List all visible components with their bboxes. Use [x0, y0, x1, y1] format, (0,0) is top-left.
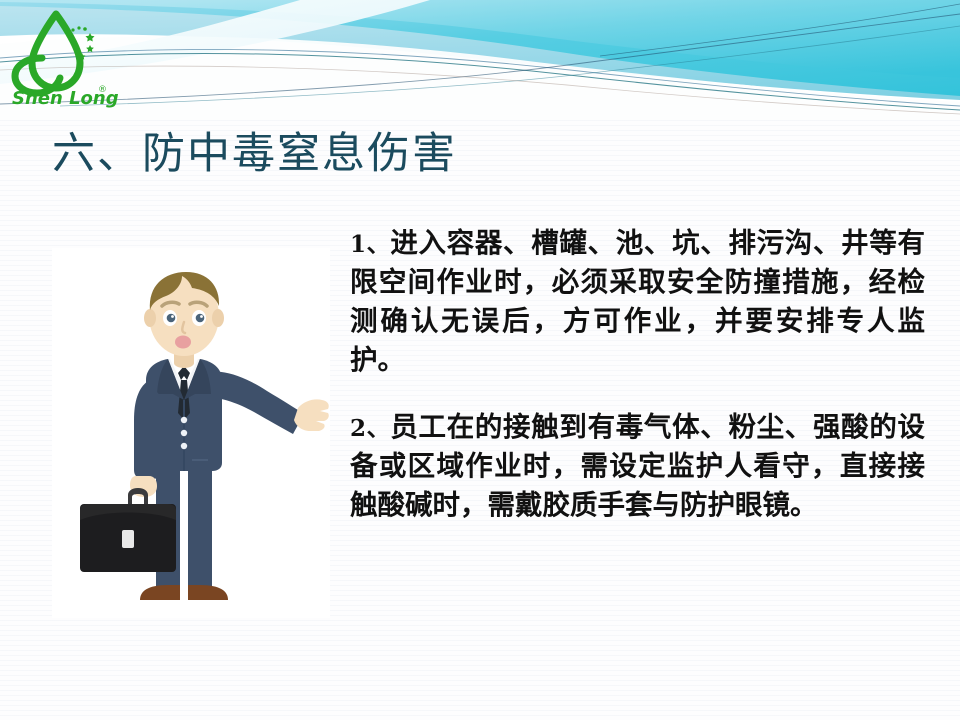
- left-arm: [134, 381, 162, 479]
- left-pupil: [167, 314, 176, 323]
- paragraph-2-text: 员工在的接触到有毒气体、粉尘、强酸的设备或区域作业时，需设定监护人看守，直接接触…: [350, 411, 925, 521]
- businessman-pointing-with-briefcase-graphic: [52, 248, 330, 618]
- right-ear: [212, 309, 224, 327]
- company-logo: Shen Long ®: [10, 8, 120, 108]
- left-ear: [144, 309, 156, 327]
- paragraph-1: 1、进入容器、槽罐、池、坑、排污沟、井等有限空间作业时，必须采取安全防撞措施，经…: [350, 224, 925, 380]
- presentation-slide: Shen Long ® 六、防中毒窒息伤害: [0, 0, 960, 720]
- paragraph-1-marker: 1、: [350, 231, 390, 258]
- mouth: [175, 336, 191, 349]
- paragraph-2-marker: 2、: [350, 415, 390, 442]
- logo-registered-mark: ®: [98, 85, 107, 95]
- paragraph-2: 2、员工在的接触到有毒气体、粉尘、强酸的设备或区域作业时，需设定监护人看守，直接…: [350, 408, 925, 525]
- left-eye-glint: [171, 315, 174, 318]
- jacket-button-1: [181, 417, 187, 423]
- page-title: 六、防中毒窒息伤害: [52, 129, 457, 181]
- right-pupil: [196, 314, 205, 323]
- right-eye-glint: [200, 315, 203, 318]
- slide-header-banner: [0, 0, 960, 120]
- water-drop-icon: [15, 14, 80, 93]
- jacket-button-3: [181, 443, 187, 449]
- slide-body-text: 1、进入容器、槽罐、池、坑、排污沟、井等有限空间作业时，必须采取安全防撞措施，经…: [350, 224, 925, 525]
- illustration-businessman: [52, 248, 330, 618]
- jacket-button-2: [181, 430, 187, 436]
- briefcase-clasp: [122, 530, 134, 548]
- paragraph-1-text: 进入容器、槽罐、池、坑、排污沟、井等有限空间作业时，必须采取安全防撞措施，经检测…: [350, 227, 925, 376]
